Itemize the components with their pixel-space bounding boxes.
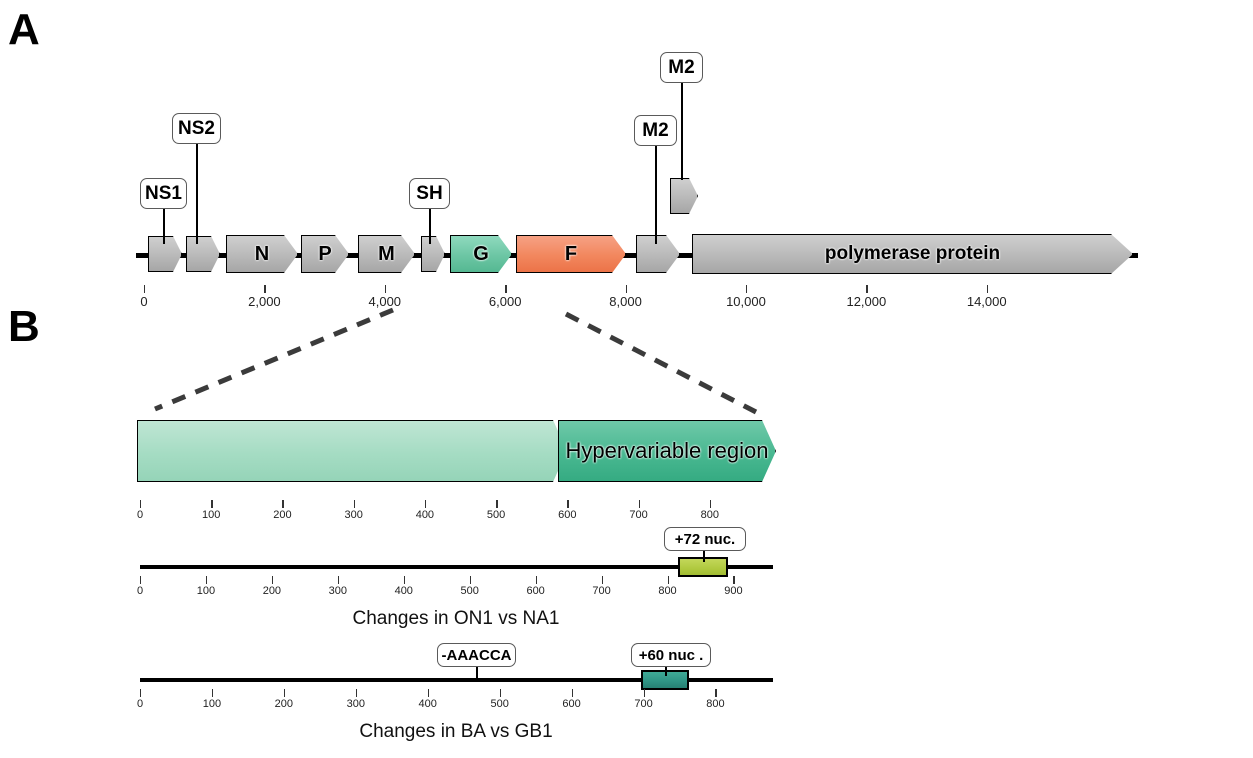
panel-b-letter: B <box>8 305 40 349</box>
ba-ruler-tick <box>284 689 285 697</box>
g-gene-ruler-tick-label: 800 <box>701 509 719 521</box>
on1-ruler-tick <box>602 576 603 584</box>
on1-ruler-tick <box>338 576 339 584</box>
callout-ns1[interactable]: NS1 <box>140 178 187 209</box>
on1-ruler-tick-label: 100 <box>197 585 215 597</box>
ba-ruler-tick <box>212 689 213 697</box>
g-gene-ruler-tick-label: 400 <box>416 509 434 521</box>
genome-ruler-tick-label: 2,000 <box>248 294 281 309</box>
ba-track-caption: Changes in BA vs GB1 <box>359 721 552 743</box>
gene-arrow-p[interactable]: P <box>301 235 349 273</box>
genome-ruler-tick-label: 4,000 <box>369 294 402 309</box>
callout-label-m2-2: M2 <box>668 57 694 79</box>
ba-ruler-tick-label: 800 <box>706 698 724 710</box>
on1-ruler-tick-label: 300 <box>329 585 347 597</box>
callout-label-m2-1: M2 <box>642 120 668 142</box>
on1-ruler-tick-label: 400 <box>395 585 413 597</box>
ba-ruler-tick-label: 600 <box>562 698 580 710</box>
g-gene-ruler: 0100200300400500600700800 <box>0 500 1253 530</box>
gene-arrow-ns2[interactable] <box>186 236 220 272</box>
leader-m2-2 <box>681 82 683 180</box>
on1-ruler: 0100200300400500600700800900 <box>0 576 1253 604</box>
gene-arrow-n[interactable]: N <box>226 235 298 273</box>
callout-sh[interactable]: SH <box>409 178 450 209</box>
genome-ruler-tick-label: 12,000 <box>846 294 886 309</box>
genome-ruler-tick-label: 14,000 <box>967 294 1007 309</box>
g-gene-ruler-tick <box>140 500 141 508</box>
ba-ruler-tick-label: 0 <box>137 698 143 710</box>
gene-arrow-m2-1[interactable] <box>636 235 680 273</box>
ba-deletion-callout[interactable]: -AAACCA <box>437 643 516 667</box>
on1-ruler-tick <box>668 576 669 584</box>
g-gene-conserved-region[interactable] <box>137 420 567 482</box>
genome-ruler-tick-label: 10,000 <box>726 294 766 309</box>
on1-ruler-tick-label: 800 <box>658 585 676 597</box>
leader-ns1 <box>163 208 165 244</box>
leader-sh <box>429 208 431 244</box>
genome-ruler-tick <box>746 285 747 293</box>
on1-track-caption: Changes in ON1 vs NA1 <box>353 608 560 630</box>
gene-label-f: F <box>565 243 577 266</box>
leader-ns2 <box>196 143 198 244</box>
on1-duplication-callout[interactable]: +72 nuc. <box>664 527 746 551</box>
genome-ruler-tick <box>626 285 627 293</box>
genome-ruler-tick <box>505 285 506 293</box>
genome-ruler: 02,0004,0006,0008,00010,00012,00014,000 <box>0 285 1253 319</box>
gene-arrow-f[interactable]: F <box>516 235 626 273</box>
callout-label-ns1: NS1 <box>145 183 182 205</box>
ba-ruler-tick <box>356 689 357 697</box>
g-gene-ruler-tick <box>282 500 283 508</box>
gene-arrow-polymerase[interactable]: polymerase protein <box>692 234 1133 274</box>
g-gene-ruler-tick <box>710 500 711 508</box>
on1-ruler-tick-label: 700 <box>592 585 610 597</box>
ba-duplication-callout[interactable]: +60 nuc . <box>631 643 711 667</box>
ba-deletion-label: -AAACCA <box>442 647 512 664</box>
on1-ruler-tick <box>140 576 141 584</box>
g-gene-ruler-tick-label: 500 <box>487 509 505 521</box>
panel-a-letter: A <box>8 8 40 52</box>
g-gene-ruler-tick-label: 600 <box>558 509 576 521</box>
ba-ruler-tick-label: 500 <box>490 698 508 710</box>
gene-label-p: P <box>318 243 331 266</box>
genome-ruler-tick <box>264 285 265 293</box>
callout-label-sh: SH <box>416 183 442 205</box>
genome-ruler-tick <box>866 285 867 293</box>
ba-ruler-tick <box>572 689 573 697</box>
ba-ruler-tick <box>644 689 645 697</box>
on1-ruler-tick-label: 600 <box>526 585 544 597</box>
on1-ruler-tick-label: 500 <box>461 585 479 597</box>
ba-ruler-tick-label: 400 <box>419 698 437 710</box>
genome-ruler-tick <box>385 285 386 293</box>
g-gene-ruler-tick-label: 100 <box>202 509 220 521</box>
callout-m2-1[interactable]: M2 <box>634 115 677 146</box>
gene-arrow-sh[interactable] <box>421 236 445 272</box>
on1-duplication-label: +72 nuc. <box>675 531 735 548</box>
g-gene-ruler-tick-label: 200 <box>273 509 291 521</box>
g-gene-ruler-tick <box>354 500 355 508</box>
on1-ruler-tick <box>536 576 537 584</box>
gene-arrow-m2-2[interactable] <box>670 178 698 214</box>
genome-ruler-tick-label: 8,000 <box>609 294 642 309</box>
ba-duplication-label: +60 nuc . <box>639 647 704 664</box>
on1-ruler-tick-label: 200 <box>263 585 281 597</box>
gene-label-g: G <box>473 243 489 266</box>
on1-ruler-tick <box>404 576 405 584</box>
on1-ruler-tick-label: 0 <box>137 585 143 597</box>
ba-ruler-tick-label: 700 <box>634 698 652 710</box>
ba-deletion-leader <box>476 667 478 680</box>
ba-ruler-tick <box>715 689 716 697</box>
gene-label-m: M <box>378 243 395 266</box>
callout-m2-2[interactable]: M2 <box>660 52 703 83</box>
genome-ruler-tick <box>144 285 145 293</box>
callout-ns2[interactable]: NS2 <box>172 113 221 144</box>
ba-ruler-tick-label: 300 <box>347 698 365 710</box>
ba-ruler: 0100200300400500600700800 <box>0 689 1253 717</box>
hypervariable-region-label: Hypervariable region <box>566 438 769 464</box>
g-gene-ruler-tick-label: 0 <box>137 509 143 521</box>
g-gene-ruler-tick <box>425 500 426 508</box>
callout-label-ns2: NS2 <box>178 118 215 140</box>
ba-ruler-tick <box>428 689 429 697</box>
on1-ruler-tick <box>733 576 734 584</box>
ba-ruler-tick <box>500 689 501 697</box>
ba-ruler-tick-label: 100 <box>203 698 221 710</box>
on1-ruler-tick <box>470 576 471 584</box>
genome-ruler-tick-label: 0 <box>140 294 147 309</box>
on1-ruler-tick <box>272 576 273 584</box>
g-gene-ruler-tick-label: 300 <box>344 509 362 521</box>
on1-ruler-tick-label: 900 <box>724 585 742 597</box>
g-gene-hypervariable-region[interactable]: Hypervariable region <box>558 420 776 482</box>
gene-arrow-ns1[interactable] <box>148 236 182 272</box>
g-gene-ruler-tick <box>639 500 640 508</box>
ba-ruler-tick <box>140 689 141 697</box>
leader-m2-1 <box>655 145 657 244</box>
genome-ruler-tick-label: 6,000 <box>489 294 522 309</box>
g-gene-ruler-tick-label: 700 <box>629 509 647 521</box>
gene-arrow-g[interactable]: G <box>450 235 512 273</box>
gene-label-n: N <box>255 243 269 266</box>
on1-ruler-tick <box>206 576 207 584</box>
gene-arrow-m[interactable]: M <box>358 235 415 273</box>
g-gene-ruler-tick <box>496 500 497 508</box>
ba-ruler-tick-label: 200 <box>275 698 293 710</box>
genome-ruler-tick <box>987 285 988 293</box>
g-gene-ruler-tick <box>211 500 212 508</box>
g-gene-ruler-tick <box>567 500 568 508</box>
gene-label-polymerase: polymerase protein <box>825 243 1000 265</box>
